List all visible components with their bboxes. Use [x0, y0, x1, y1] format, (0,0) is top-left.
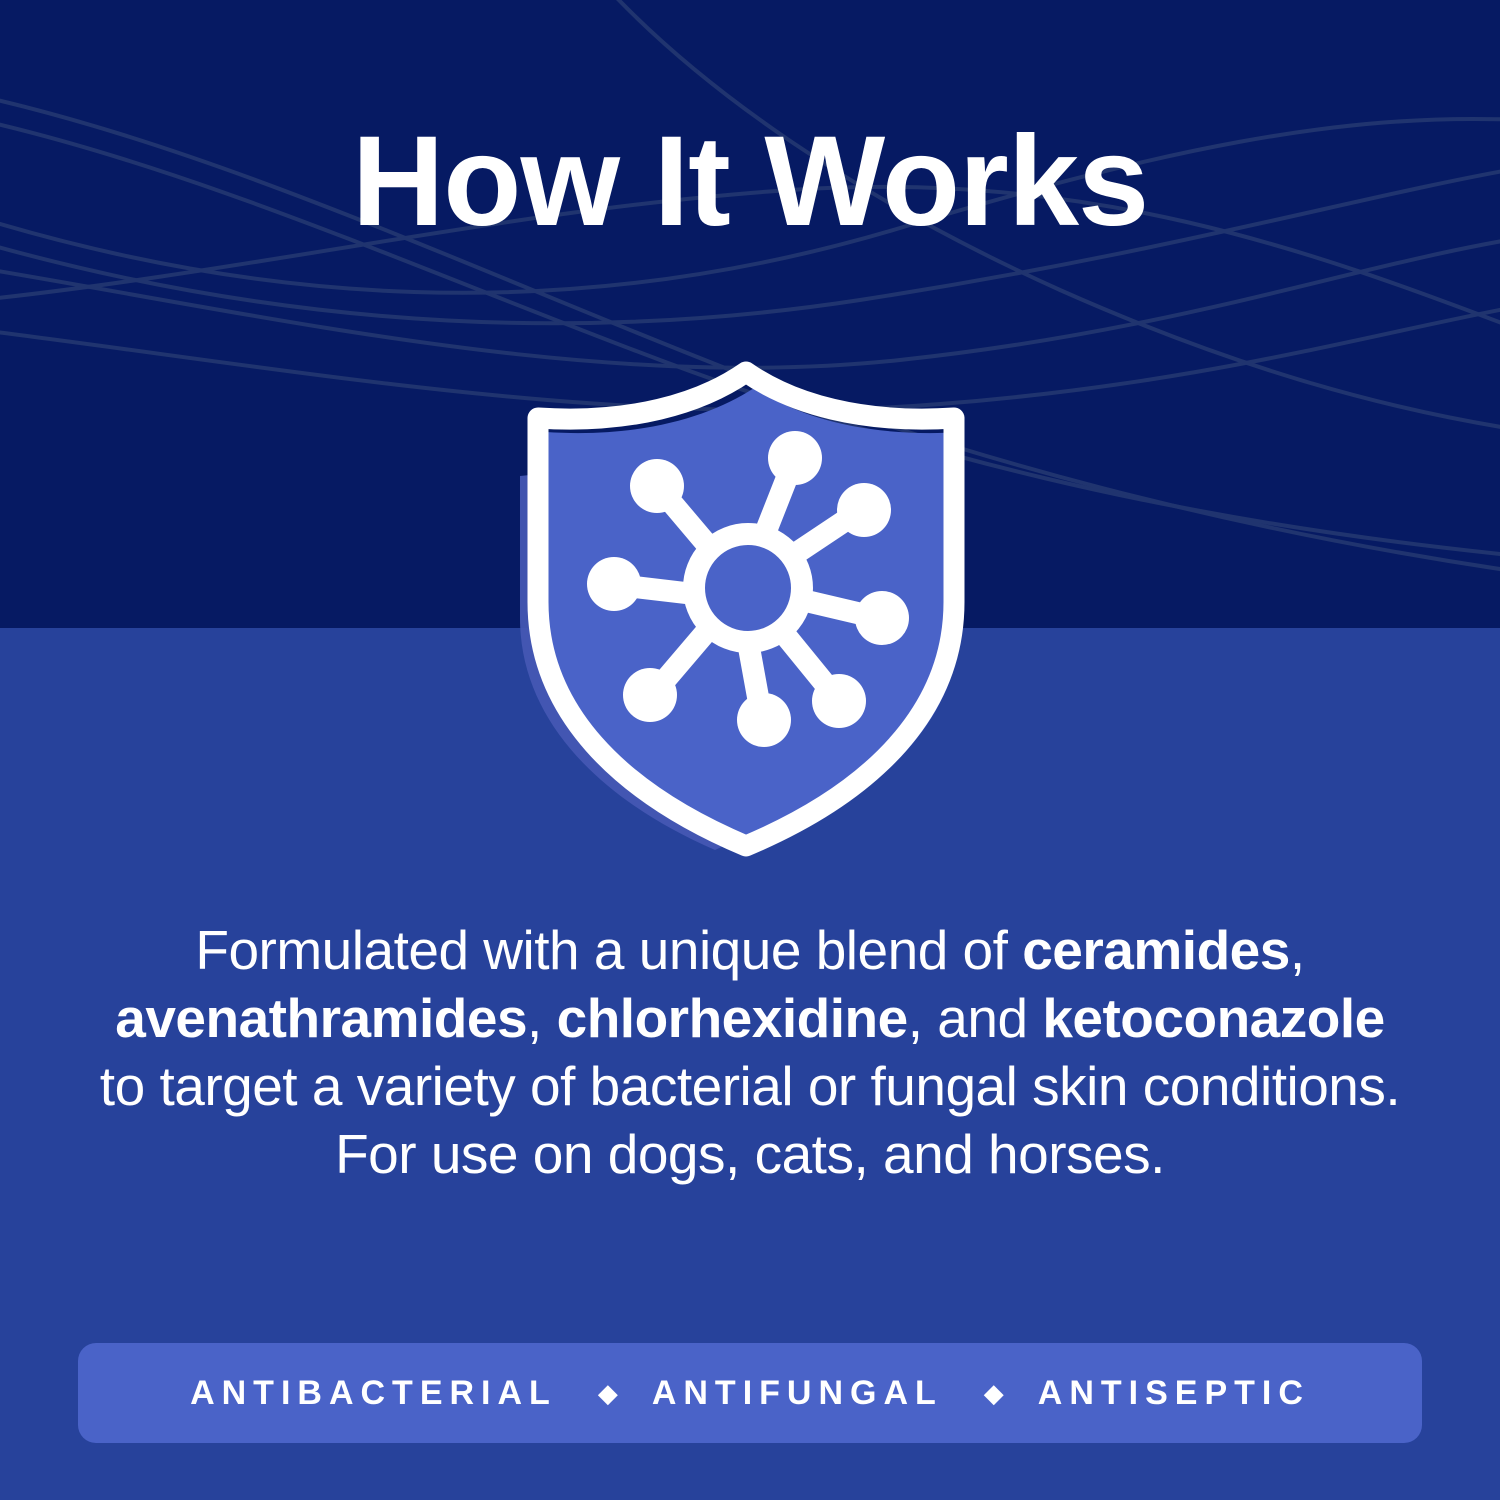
badge-separator-dot-2: ◆ — [943, 1380, 1038, 1406]
description-text: Formulated with a unique blend of cerami… — [100, 919, 1400, 1185]
description-run: Formulated with a unique blend of — [195, 919, 1022, 981]
how-it-works-panel: How It Works — [0, 0, 1500, 1500]
ingredient-emphasis: chlorhexidine — [557, 987, 908, 1049]
ingredient-emphasis: avenathramides — [115, 987, 527, 1049]
description-run: , — [527, 987, 557, 1049]
description-run: , and — [908, 987, 1043, 1049]
ingredient-emphasis: ketoconazole — [1042, 987, 1384, 1049]
claims-badge-bar: ANTIBACTERIAL ◆ ANTIFUNGAL ◆ ANTISEPTIC — [78, 1343, 1422, 1443]
badge-antiseptic: ANTISEPTIC — [1038, 1374, 1310, 1413]
description-paragraph: Formulated with a unique blend of cerami… — [90, 916, 1410, 1188]
ingredient-emphasis: ceramides — [1022, 919, 1290, 981]
description-run: to target a variety of bacterial or fung… — [100, 1055, 1400, 1185]
shield-with-microbe-icon — [470, 350, 1030, 870]
badge-antifungal: ANTIFUNGAL — [652, 1374, 943, 1413]
page-title: How It Works — [0, 118, 1500, 246]
badge-antibacterial: ANTIBACTERIAL — [190, 1374, 557, 1413]
badge-separator-dot-1: ◆ — [557, 1380, 652, 1406]
description-run: , — [1290, 919, 1305, 981]
